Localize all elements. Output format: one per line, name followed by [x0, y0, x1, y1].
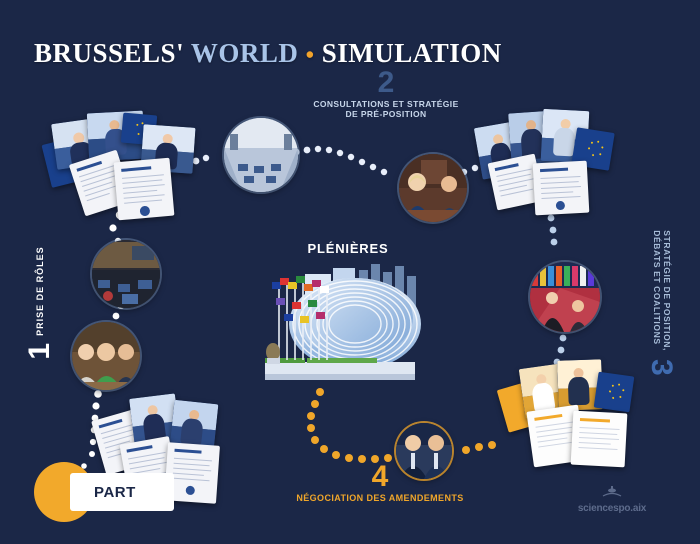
collage-card: [533, 161, 590, 216]
circle-photo-assembly-room: [92, 240, 160, 308]
start-button[interactable]: DÉPART: [34, 462, 174, 506]
step-2-label-line2: DE PRÉ-POSITION: [301, 110, 471, 120]
step-3-label-line2: DÉBATS ET COALITIONS: [651, 230, 661, 351]
european-parliament-illustration: [243, 258, 428, 388]
collage-top-left: [42, 108, 202, 218]
title-part-simulation: SIMULATION: [322, 38, 502, 68]
collage-card: [594, 372, 635, 413]
step-3-label-line1: STRATÉGIE DE POSITION,: [661, 230, 671, 351]
title-part-brussels: BRUSSELS': [34, 38, 184, 68]
collage-top-right: [478, 106, 618, 216]
lamp-icon: [601, 486, 623, 497]
collage-bottom-right: [500, 358, 640, 468]
title-part-world: WORLD: [191, 38, 299, 68]
step-3-label: STRATÉGIE DE POSITION, DÉBATS ET COALITI…: [651, 230, 671, 351]
step-4-number: 4: [290, 462, 470, 492]
step-2-label: CONSULTATIONS ET STRATÉGIE DE PRÉ-POSITI…: [301, 100, 471, 120]
start-button-label-prefix: DÉ: [72, 484, 94, 501]
page-title: BRUSSELS' WORLD • SIMULATION: [34, 38, 502, 69]
collage-card: [114, 158, 175, 221]
step-1: 1 PRISE DE RÔLES: [25, 233, 55, 373]
circle-photo-conference-hall: [224, 118, 298, 192]
sciencespo-logo: sciencespo.aix: [572, 486, 652, 516]
plenary-label: PLÉNIÈRES: [283, 241, 413, 256]
title-bullet-icon: •: [306, 42, 315, 68]
start-button-label-suffix: PART: [94, 484, 136, 501]
start-button-label: DÉPART: [34, 484, 174, 501]
step-2: 2 CONSULTATIONS ET STRATÉGIE DE PRÉ-POSI…: [301, 68, 471, 120]
circle-photo-two-speakers: [399, 154, 467, 222]
step-3-number: 3: [646, 359, 676, 376]
step-1-label: PRISE DE RÔLES: [35, 246, 45, 336]
infographic-poster: BRUSSELS' WORLD • SIMULATION: [0, 0, 700, 544]
step-1-number: 1: [25, 343, 55, 360]
circle-photo-flags-hall: [530, 262, 600, 332]
step-2-number: 2: [301, 68, 471, 98]
step-4-label: NÉGOCIATION DES AMENDEMENTS: [290, 493, 470, 503]
step-3: STRATÉGIE DE POSITION, DÉBATS ET COALITI…: [646, 228, 676, 378]
step-4: 4 NÉGOCIATION DES AMENDEMENTS: [290, 462, 470, 503]
collage-card: [571, 411, 628, 468]
circle-photo-seated-delegates: [72, 322, 140, 390]
sciencespo-logo-text: sciencespo.aix: [578, 503, 646, 514]
